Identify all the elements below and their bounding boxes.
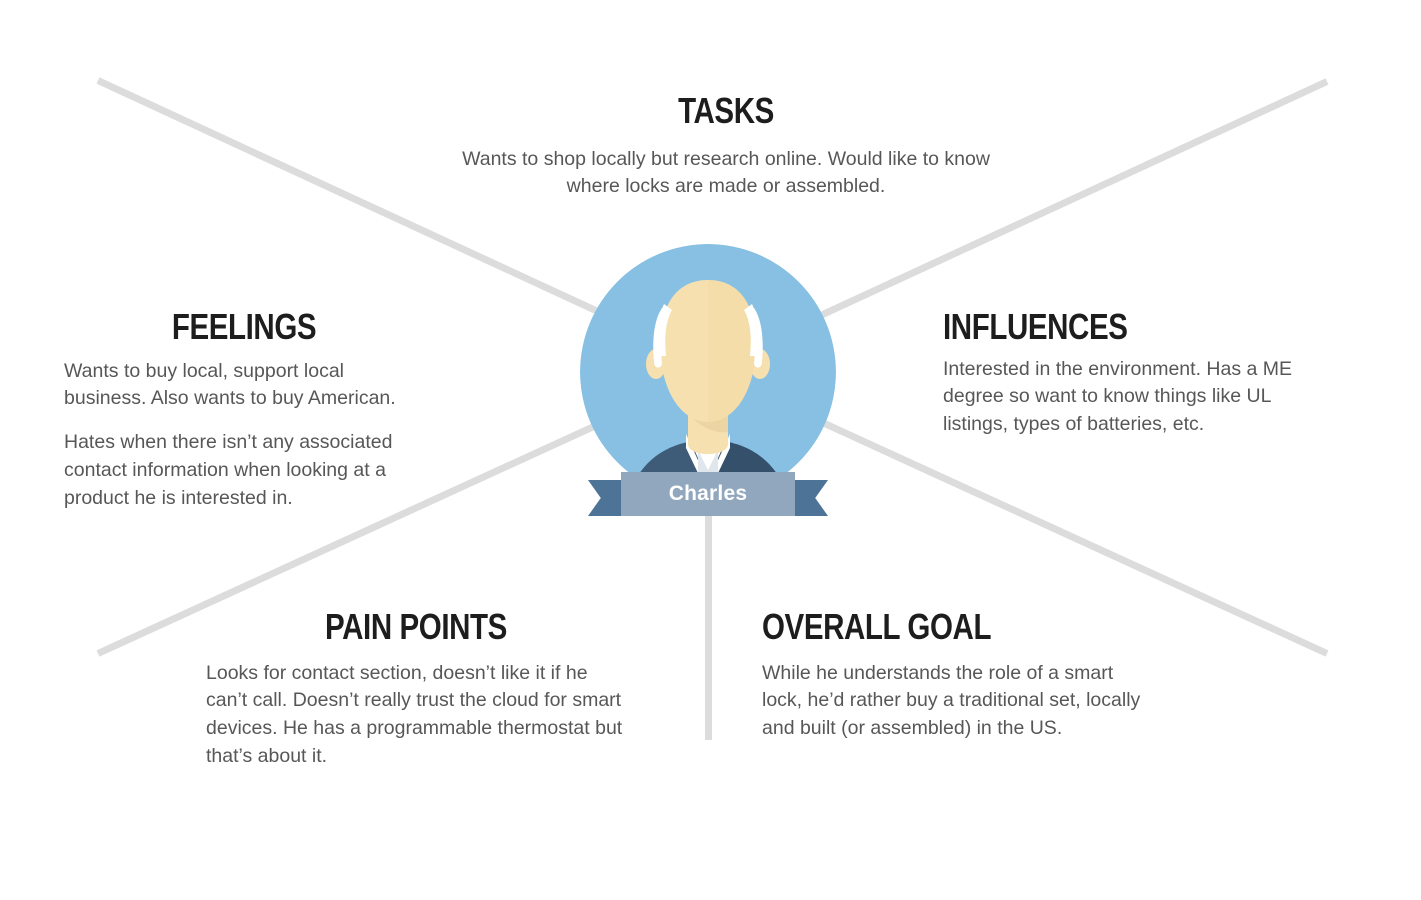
connector-line-vertical	[705, 508, 712, 740]
section-overall-goal-text: While he understands the role of a smart…	[762, 660, 1152, 743]
section-pain-points-heading: PAIN POINTS	[244, 608, 588, 646]
section-pain-points-text: Looks for contact section, doesn’t like …	[206, 660, 626, 771]
section-feelings-text-1: Wants to buy local, support local busine…	[64, 358, 424, 413]
section-influences-text: Interested in the environment. Has a ME …	[943, 356, 1318, 439]
section-feelings: FEELINGS Wants to buy local, support loc…	[64, 308, 424, 512]
section-feelings-heading: FEELINGS	[96, 308, 391, 346]
ribbon-band: Charles	[621, 472, 795, 516]
persona-avatar	[580, 244, 836, 500]
persona-name-ribbon: Charles	[588, 472, 828, 522]
section-pain-points: PAIN POINTS Looks for contact section, d…	[206, 608, 626, 771]
section-tasks-heading: TASKS	[496, 92, 955, 130]
persona-diagram: TASKS Wants to shop locally but research…	[0, 0, 1421, 900]
section-feelings-text-2: Hates when there isn’t any associated co…	[64, 429, 424, 512]
section-influences-heading: INFLUENCES	[943, 308, 1251, 346]
section-tasks-text: Wants to shop locally but research onlin…	[446, 146, 1006, 201]
section-influences: INFLUENCES Interested in the environment…	[943, 308, 1318, 439]
section-tasks: TASKS Wants to shop locally but research…	[446, 92, 1006, 201]
avatar-circle	[580, 244, 836, 500]
section-overall-goal-heading: OVERALL GOAL	[762, 608, 1082, 646]
persona-name: Charles	[669, 482, 747, 506]
section-overall-goal: OVERALL GOAL While he understands the ro…	[762, 608, 1152, 743]
